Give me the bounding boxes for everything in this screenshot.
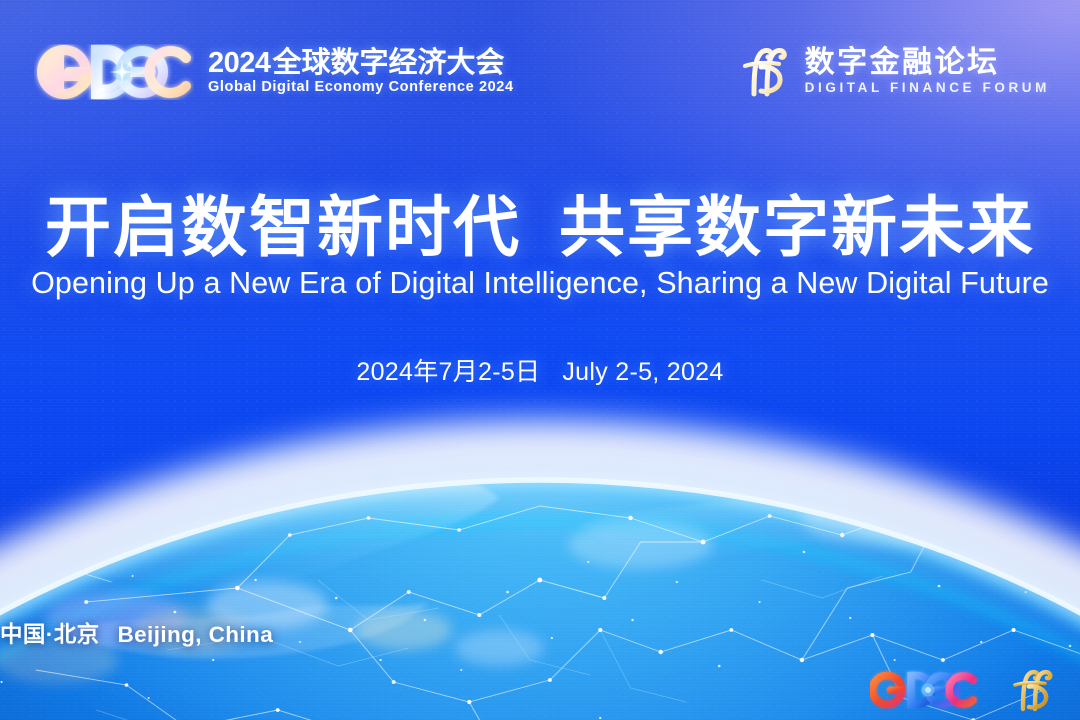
main-title-cn-part1: 开启数智新时代: [45, 190, 521, 264]
footer-ff-monogram-svg: [1006, 668, 1058, 712]
footer-logo-row: [870, 668, 1058, 712]
gdec-title-cn: 2024全球数字经济大会: [208, 49, 514, 78]
digital-finance-forum-monogram-icon: [734, 44, 792, 98]
gdec-logo: [34, 44, 194, 100]
gdec-wordmark: 2024全球数字经济大会 Global Digital Economy Conf…: [208, 49, 514, 95]
main-title-cn: 开启数智新时代共享数字新未来: [0, 194, 1080, 261]
earth-globe-graphic: [0, 330, 1080, 720]
main-title-en: Opening Up a New Era of Digital Intellig…: [0, 266, 1080, 301]
gdec-title-year: 2024: [208, 47, 271, 79]
footer-gdec-logo: [870, 669, 980, 711]
dff-title-cn: 数字金融论坛: [805, 48, 1000, 78]
conference-backdrop: 2024全球数字经济大会 Global Digital Economy Conf…: [0, 0, 1080, 720]
event-location: 中国·北京Beijing, China: [0, 617, 1080, 649]
gdec-logo-lockup: 2024全球数字经济大会 Global Digital Economy Conf…: [34, 44, 514, 100]
dff-title-en: DIGITAL FINANCE FORUM: [805, 81, 1050, 95]
event-date-en: July 2-5, 2024: [562, 358, 723, 386]
event-location-cn: 中国·北京: [0, 622, 100, 647]
backdrop-header: 2024全球数字经济大会 Global Digital Economy Conf…: [0, 0, 1080, 130]
ff-monogram-svg: [734, 44, 792, 98]
digital-finance-forum-wordmark: 数字金融论坛 DIGITAL FINANCE FORUM: [805, 48, 1050, 95]
footer-digital-finance-forum-logo: [1006, 668, 1058, 712]
event-date-cn: 2024年7月2-5日: [356, 358, 540, 386]
digital-finance-forum-lockup: 数字金融论坛 DIGITAL FINANCE FORUM: [734, 44, 1050, 98]
globe-svg: [0, 330, 1080, 720]
gdec-title-en: Global Digital Economy Conference 2024: [208, 80, 514, 95]
footer-gdec-logo-svg: [870, 669, 980, 711]
event-date: 2024年7月2-5日July 2-5, 2024: [0, 352, 1080, 388]
event-location-en: Beijing, China: [118, 622, 274, 647]
main-title-cn-part2: 共享数字新未来: [559, 190, 1035, 264]
gdec-title-cn-rest: 全球数字经济大会: [273, 47, 505, 79]
gdec-logo-svg: [34, 44, 194, 100]
